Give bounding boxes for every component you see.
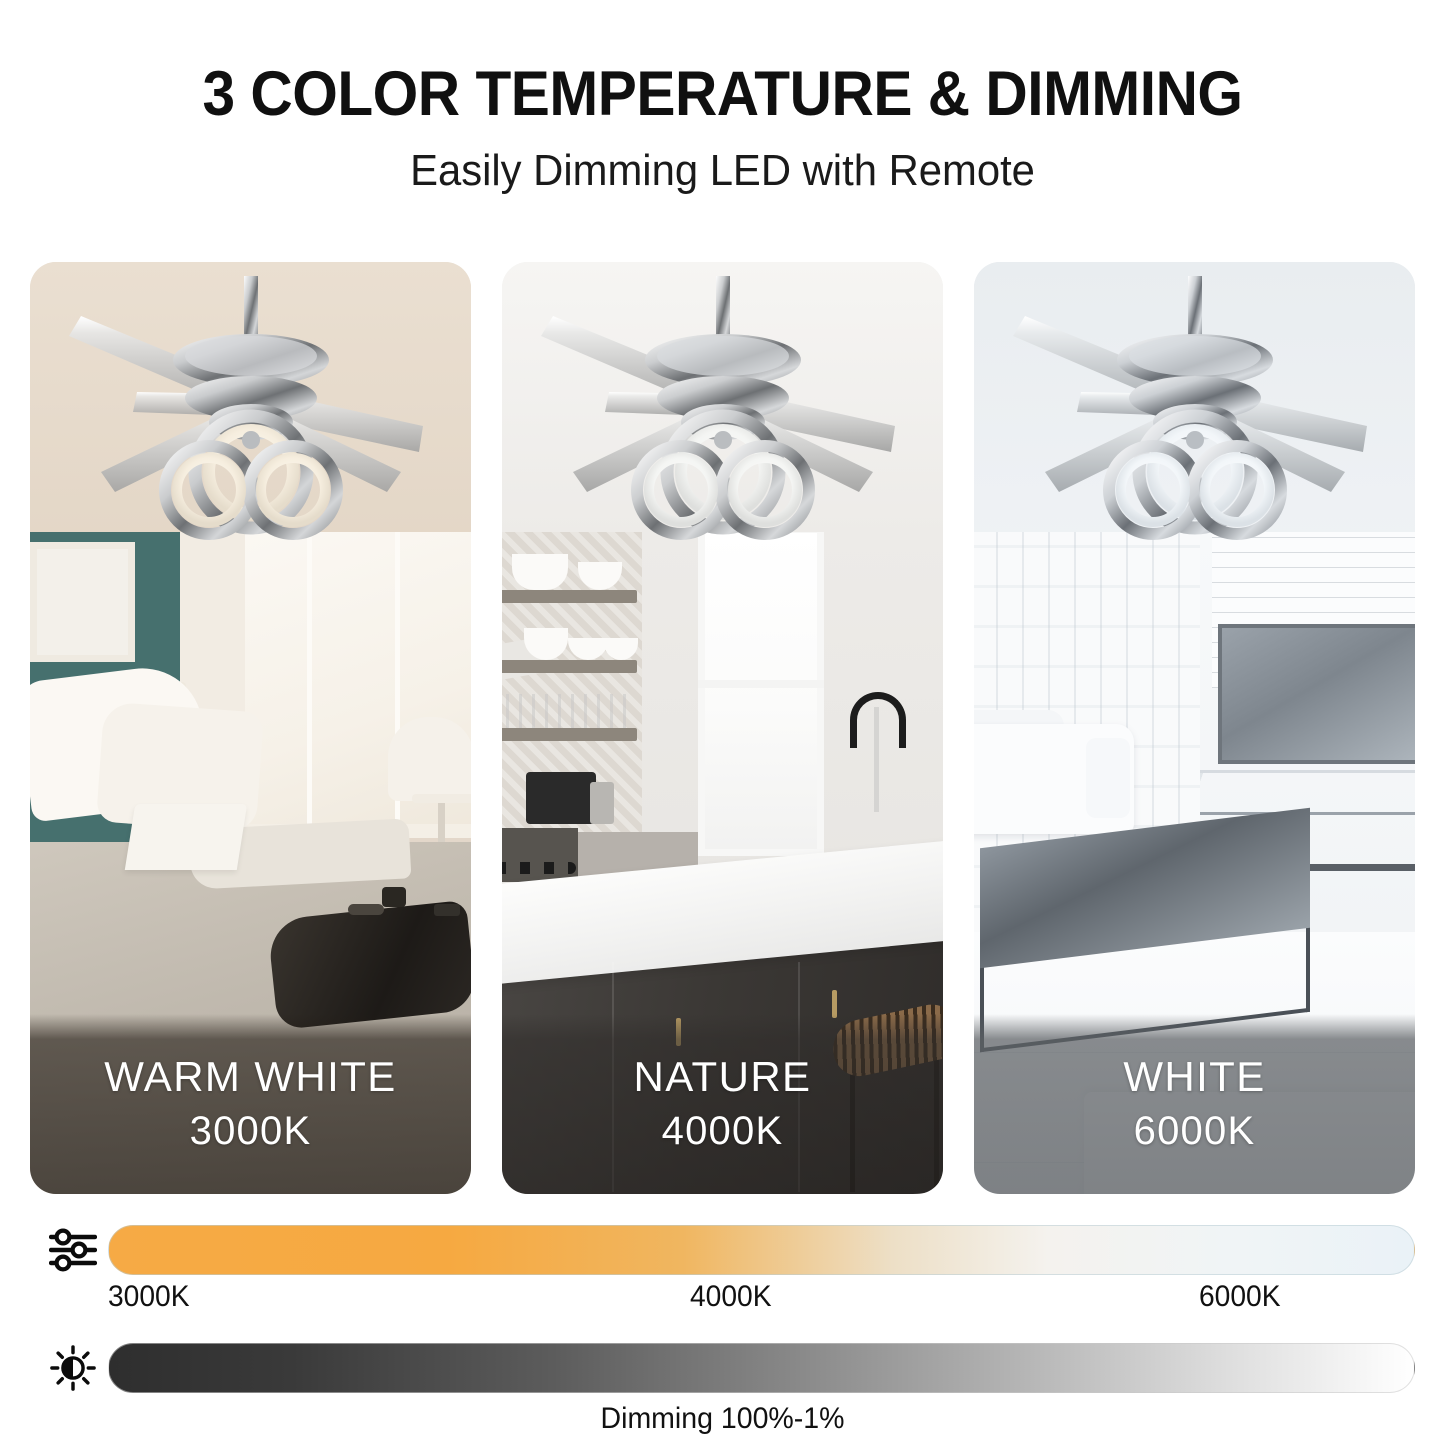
ceiling-fan (985, 276, 1405, 596)
sofa-armrest (1086, 738, 1130, 818)
card-label-overlay: WHITE 6000K (974, 1014, 1415, 1194)
ceiling-fan (41, 276, 461, 596)
dark-jacket (267, 900, 471, 1030)
tick-3000k: 3000K (108, 1280, 190, 1314)
dimming-gradient-bar[interactable] (108, 1343, 1415, 1393)
brightness-icon (44, 1343, 102, 1393)
sliders-icon (44, 1225, 102, 1275)
tick-4000k: 4000K (690, 1280, 772, 1314)
color-temp-name: WHITE (1123, 1054, 1265, 1100)
wine-glasses (506, 694, 634, 728)
espresso-water-tank (590, 782, 614, 824)
ceiling-fan (513, 276, 933, 596)
dimming-caption: Dimming 100%-1% (36, 1402, 1409, 1436)
card-label-overlay: NATURE 4000K (502, 1014, 943, 1194)
bedside-object-pen (348, 904, 384, 915)
bars-section: 3000K 4000K 6000K (0, 1222, 1445, 1436)
espresso-machine (526, 772, 596, 824)
color-temp-name: WARM WHITE (104, 1054, 396, 1100)
color-temperature-ticks: 3000K 4000K 6000K (108, 1278, 1415, 1320)
color-temp-kelvin: 3000K (190, 1109, 312, 1154)
range-knobs (502, 862, 576, 874)
accent-chair (388, 717, 471, 801)
open-shelf-bottom (502, 728, 637, 741)
bedside-object-camera (382, 887, 406, 907)
open-shelf-middle (502, 660, 637, 673)
card-label-overlay: WARM WHITE 3000K (30, 1014, 471, 1194)
color-temperature-row (0, 1222, 1445, 1278)
wall-mounted-tv (1218, 624, 1415, 764)
color-temp-kelvin: 4000K (662, 1109, 784, 1154)
infographic-page: 3 COLOR TEMPERATURE & DIMMING Easily Dim… (0, 0, 1445, 1445)
scene-card-nature: NATURE 4000K (502, 262, 943, 1194)
scene-card-warm-white: WARM WHITE 3000K (30, 262, 471, 1194)
side-table-top (412, 794, 471, 803)
color-temp-name: NATURE (634, 1054, 812, 1100)
dimming-row (0, 1340, 1445, 1396)
tick-6000k: 6000K (1199, 1280, 1281, 1314)
scene-card-row: WARM WHITE 3000K (30, 262, 1415, 1194)
color-temp-kelvin: 6000K (1134, 1109, 1256, 1154)
bedside-object-phone (434, 904, 460, 916)
header: 3 COLOR TEMPERATURE & DIMMING Easily Dim… (0, 0, 1445, 196)
faucet-body (874, 707, 879, 812)
scene-card-white: WHITE 6000K (974, 262, 1415, 1194)
page-subtitle: Easily Dimming LED with Remote (36, 146, 1409, 196)
color-temperature-gradient-bar[interactable] (108, 1225, 1415, 1275)
laptop (125, 804, 247, 870)
window-muntin (698, 680, 824, 688)
page-title: 3 COLOR TEMPERATURE & DIMMING (51, 58, 1395, 130)
